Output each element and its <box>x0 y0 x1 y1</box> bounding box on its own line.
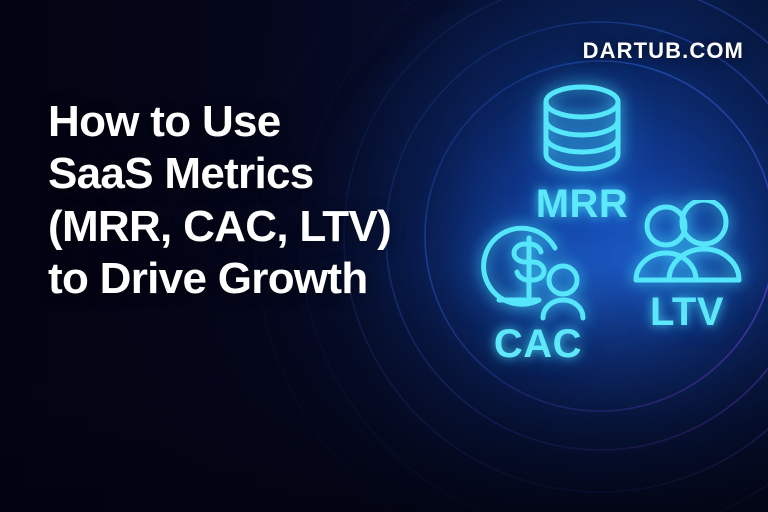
metric-item-cac: CAC <box>458 218 618 364</box>
metrics-cluster: MRR CAC <box>440 70 768 400</box>
users-icon <box>628 200 746 288</box>
brand-logo-text: DARTUB.COM <box>583 38 744 64</box>
title-line-3: (MRR, CAC, LTV) <box>48 201 448 253</box>
dollar-circle-user-icon <box>477 218 593 322</box>
title-line-2: SaaS Metrics <box>48 148 448 200</box>
metric-label-ltv: LTV <box>650 292 724 332</box>
saas-metrics-banner: DARTUB.COM How to Use SaaS Metrics (MRR,… <box>0 0 768 512</box>
metric-item-ltv: LTV <box>612 200 762 332</box>
title-line-4: to Drive Growth <box>48 253 448 305</box>
page-title: How to Use SaaS Metrics (MRR, CAC, LTV) … <box>48 96 448 305</box>
database-icon <box>530 78 634 182</box>
title-line-1: How to Use <box>48 96 448 148</box>
metric-label-cac: CAC <box>494 324 582 364</box>
